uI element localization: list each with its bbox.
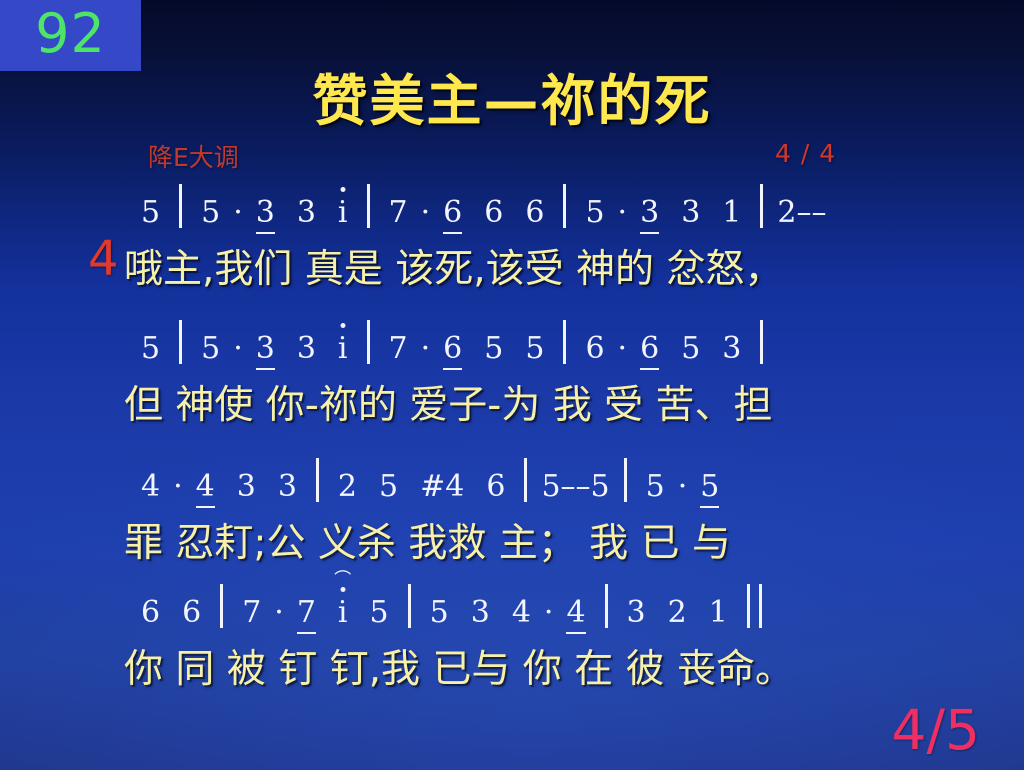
music-system-4: 667·7i5534·4321 你 同 被 钉 钉,我 已与 你 在 彼 丧命。 bbox=[0, 582, 1024, 694]
key-signature-label: 降E大调 bbox=[148, 138, 239, 174]
time-signature-label: 4 / 4 bbox=[775, 139, 836, 168]
note-token: 6 bbox=[486, 472, 505, 502]
note-token: · bbox=[274, 598, 284, 628]
note-token: 2 bbox=[668, 598, 687, 628]
note-token: 7 bbox=[297, 598, 316, 628]
note-token: · bbox=[421, 198, 431, 228]
note-token: · bbox=[618, 198, 628, 228]
note-token: 6 bbox=[443, 198, 462, 228]
page-title: 赞美主—祢的死 bbox=[0, 56, 1024, 136]
note-token: 7 bbox=[242, 598, 261, 628]
hymn-slide: 92 赞美主—祢的死 降E大调 4 / 4 4 55·33i7·6665·331… bbox=[0, 0, 1024, 770]
note-token: 5 bbox=[201, 334, 220, 364]
barline bbox=[563, 320, 566, 364]
note-token: 2–– bbox=[777, 198, 826, 228]
barline bbox=[605, 584, 608, 628]
note-token: 5 bbox=[484, 334, 503, 364]
note-token: 4 bbox=[512, 598, 531, 628]
barline bbox=[220, 584, 223, 628]
note-token: 5 bbox=[430, 598, 449, 628]
notation-row-3: 4·43325#465––55·5 bbox=[0, 456, 1024, 502]
note-token: 6 bbox=[525, 198, 544, 228]
note-token: 3 bbox=[681, 198, 700, 228]
note-token: 2 bbox=[338, 472, 357, 502]
lyrics-row-1: 哦主,我们 真是 该死,该受 神的 忿怒， bbox=[0, 238, 1024, 294]
lyrics-row-3: 罪 忍耓;公 义杀 我救 主； 我 已 与 bbox=[0, 512, 1024, 568]
music-system-1: 55·33i7·6665·3312–– 哦主,我们 真是 该死,该受 神的 忿怒… bbox=[0, 182, 1024, 294]
note-token: · bbox=[233, 198, 243, 228]
note-token: 6 bbox=[443, 334, 462, 364]
barline bbox=[524, 458, 527, 502]
barline bbox=[760, 320, 763, 364]
barline bbox=[760, 184, 763, 228]
note-token: 4 bbox=[196, 472, 215, 502]
note-token: 5––5 bbox=[541, 472, 609, 502]
note-token: 5 bbox=[201, 198, 220, 228]
barline bbox=[179, 320, 182, 364]
note-token: · bbox=[618, 334, 628, 364]
note-token: 6 bbox=[585, 334, 604, 364]
note-token: 5 bbox=[681, 334, 700, 364]
barline bbox=[316, 458, 319, 502]
note-token: · bbox=[544, 598, 554, 628]
note-token: 5 bbox=[141, 334, 160, 364]
notation-row-1: 55·33i7·6665·3312–– bbox=[0, 182, 1024, 228]
note-token: 5 bbox=[646, 472, 665, 502]
note-token: 5 bbox=[379, 472, 398, 502]
note-token: 1 bbox=[709, 598, 728, 628]
barline bbox=[367, 320, 370, 364]
note-token: 3 bbox=[297, 334, 316, 364]
lyrics-row-4: 你 同 被 钉 钉,我 已与 你 在 彼 丧命。 bbox=[0, 638, 1024, 694]
note-token: 3 bbox=[297, 198, 316, 228]
note-token: i bbox=[338, 198, 348, 228]
note-token: 3 bbox=[256, 334, 275, 364]
lyrics-row-2: 但 神使 你-祢的 爱子-为 我 受 苦、担 bbox=[0, 374, 1024, 430]
notation-row-2: 55·33i7·6556·653 bbox=[0, 318, 1024, 364]
note-token: #4 bbox=[420, 472, 464, 502]
note-token: 5 bbox=[700, 472, 719, 502]
note-token: 6 bbox=[141, 598, 160, 628]
note-token: 6 bbox=[182, 598, 201, 628]
note-token: 4 bbox=[141, 472, 160, 502]
note-token: 3 bbox=[722, 334, 741, 364]
notation-row-4: 667·7i5534·4321 bbox=[0, 582, 1024, 628]
note-token: 3 bbox=[640, 198, 659, 228]
note-token: 6 bbox=[484, 198, 503, 228]
note-token: 3 bbox=[627, 598, 646, 628]
barline bbox=[367, 184, 370, 228]
double-barline bbox=[747, 584, 762, 628]
note-token: 3 bbox=[256, 198, 275, 228]
barline bbox=[624, 458, 627, 502]
note-token: 7 bbox=[389, 198, 408, 228]
note-token: 5 bbox=[370, 598, 389, 628]
barline bbox=[563, 184, 566, 228]
barline bbox=[408, 584, 411, 628]
note-token: · bbox=[678, 472, 688, 502]
note-token: 7 bbox=[389, 334, 408, 364]
note-token: 4 bbox=[566, 598, 585, 628]
music-system-2: 55·33i7·6556·653 但 神使 你-祢的 爱子-为 我 受 苦、担 bbox=[0, 318, 1024, 430]
note-token: i bbox=[338, 598, 348, 628]
note-token: · bbox=[421, 334, 431, 364]
note-token: 1 bbox=[722, 198, 741, 228]
note-token: · bbox=[173, 472, 183, 502]
note-token: 3 bbox=[278, 472, 297, 502]
note-token: 5 bbox=[525, 334, 544, 364]
music-system-3: 4·43325#465––55·5 罪 忍耓;公 义杀 我救 主； 我 已 与 bbox=[0, 456, 1024, 568]
note-token: 5 bbox=[585, 198, 604, 228]
note-token: · bbox=[233, 334, 243, 364]
note-token: 3 bbox=[471, 598, 490, 628]
note-token: 3 bbox=[237, 472, 256, 502]
note-token: 6 bbox=[640, 334, 659, 364]
note-token: i bbox=[338, 334, 348, 364]
note-token: 5 bbox=[141, 198, 160, 228]
barline bbox=[179, 184, 182, 228]
page-indicator: 4/5 bbox=[891, 703, 980, 758]
